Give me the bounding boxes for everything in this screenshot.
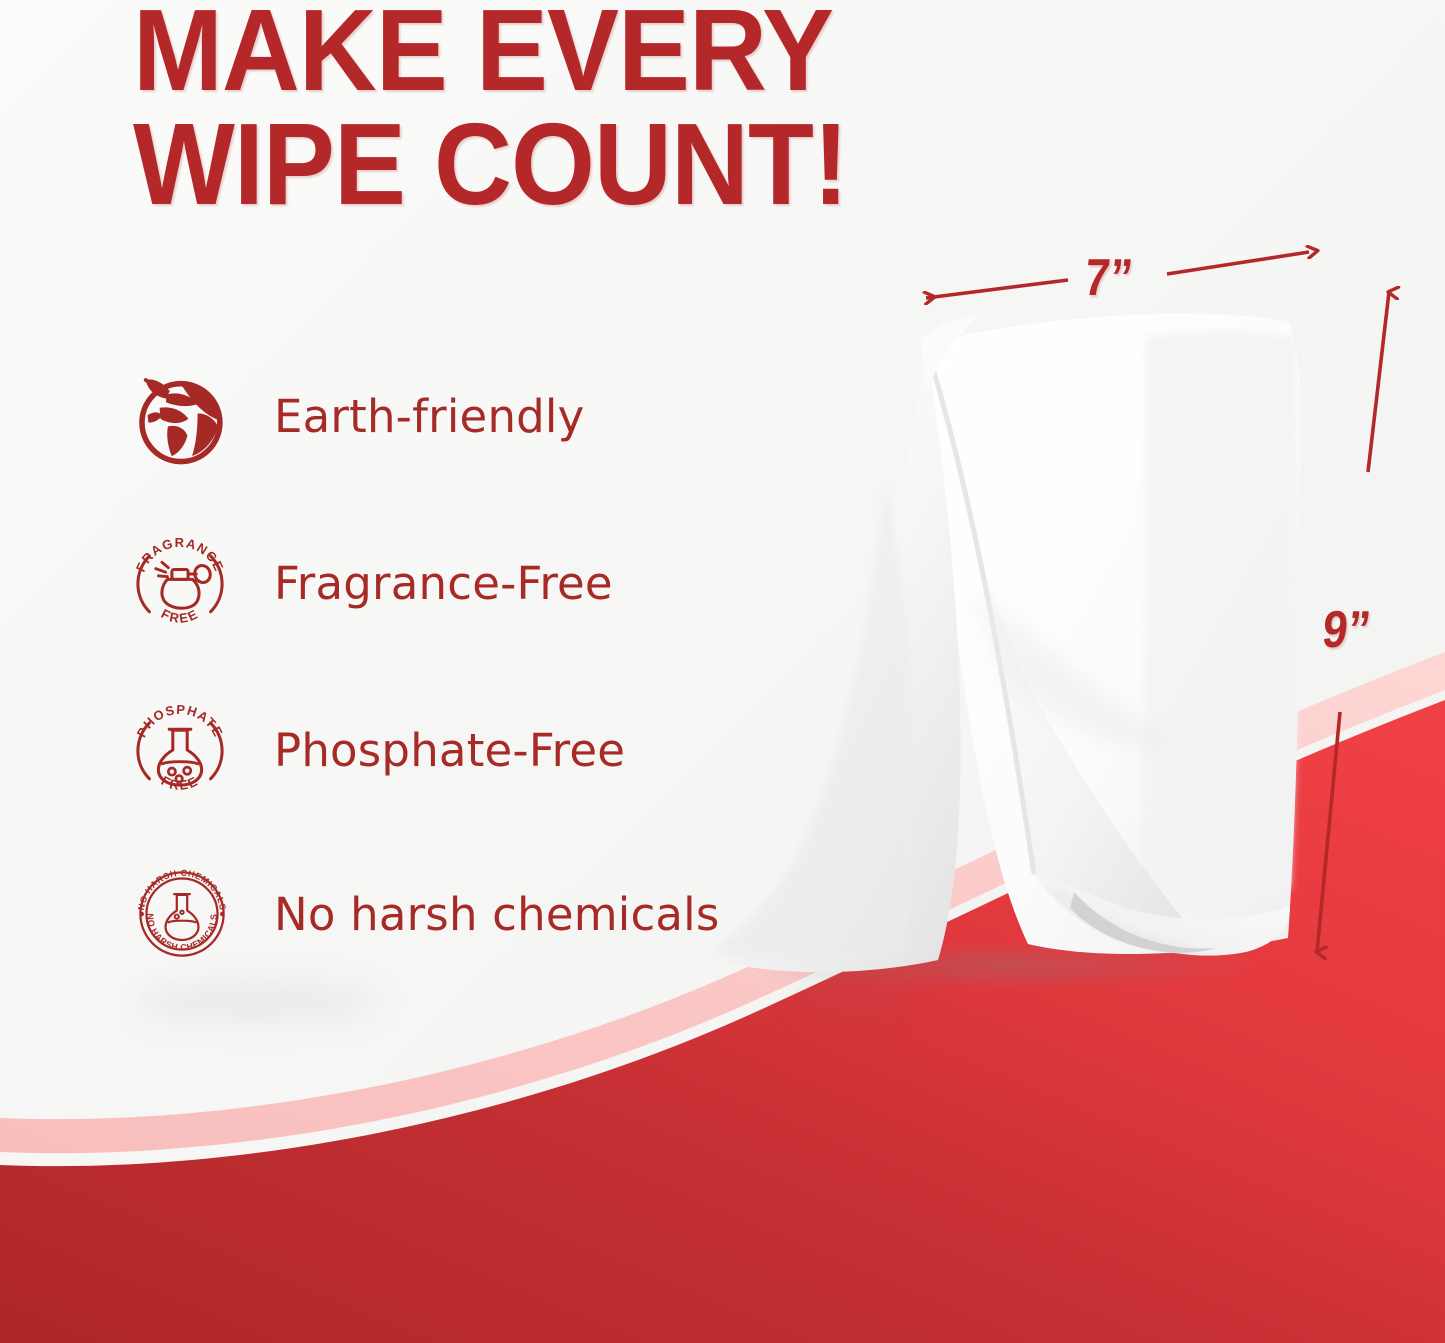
height-dimension-label: 9” [1320, 600, 1374, 660]
width-dimension-label: 7” [1082, 248, 1136, 308]
width-arrow-right [1167, 252, 1309, 274]
height-arrow-up [1368, 292, 1389, 472]
width-arrow-left [926, 280, 1068, 298]
dimension-callouts [0, 0, 1445, 1343]
height-arrow-down [1317, 712, 1340, 952]
promo-canvas: MAKE EVERY WIPE COUNT! [0, 0, 1445, 1343]
